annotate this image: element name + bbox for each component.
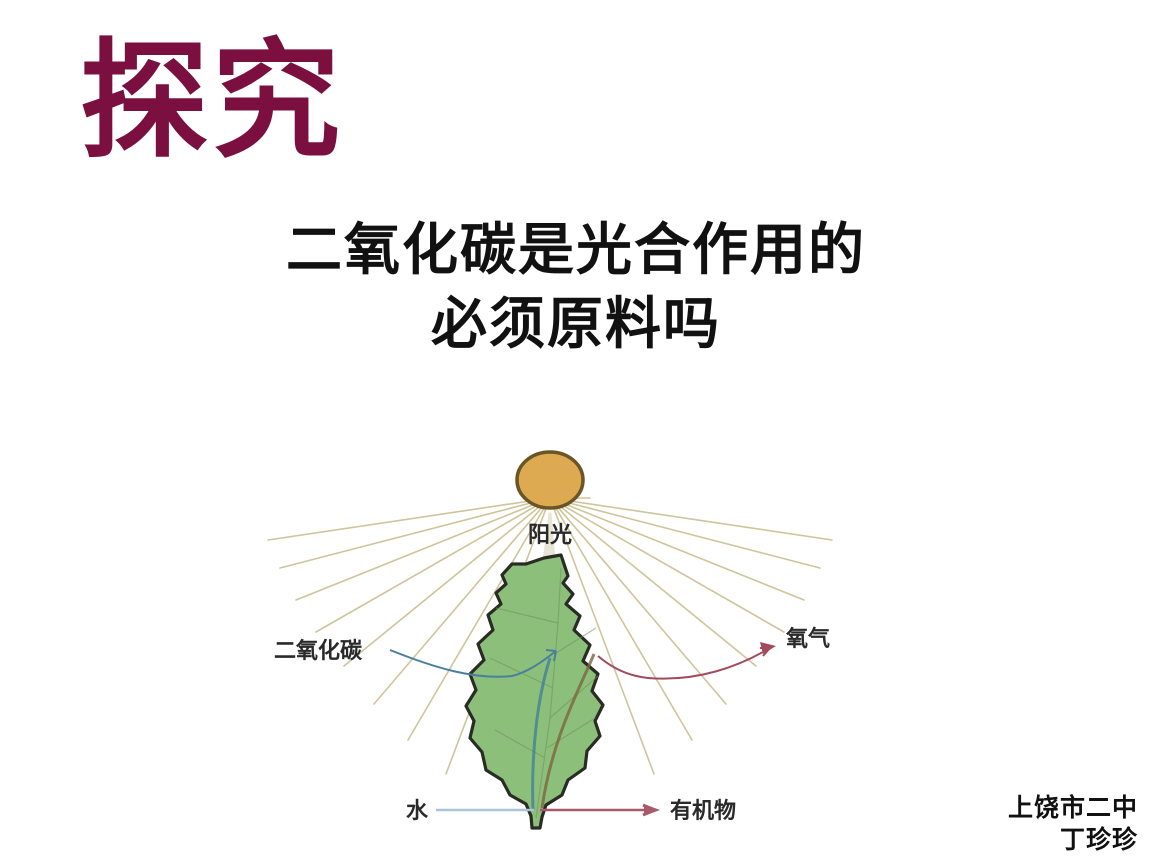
water-label: 水 [406, 799, 429, 824]
heading-line-1: 二氧化碳是光合作用的 [0, 214, 1152, 288]
organic-matter-label: 有机物 [670, 798, 736, 824]
credit-school: 上饶市二中 [1008, 792, 1138, 824]
o2-arrow-icon [598, 648, 770, 679]
credit-author: 丁珍珍 [1008, 824, 1138, 856]
organic-arrowhead-icon [644, 804, 660, 816]
co2-label: 二氧化碳 [274, 638, 363, 664]
sun-icon [517, 452, 583, 508]
sunlight-label: 阳光 [528, 523, 572, 548]
page-title: 探究 [80, 28, 344, 175]
organic-arrow-icon [540, 805, 654, 815]
o2-label: 氧气 [785, 626, 830, 652]
credit-block: 上饶市二中 丁珍珍 [1008, 792, 1138, 856]
photosynthesis-diagram: 阳光 [250, 418, 910, 838]
leaf-icon [466, 555, 603, 828]
question-heading: 二氧化碳是光合作用的 必须原料吗 [0, 214, 1152, 363]
heading-line-2: 必须原料吗 [0, 288, 1152, 362]
slide-canvas: 探究 二氧化碳是光合作用的 必须原料吗 [0, 0, 1152, 864]
